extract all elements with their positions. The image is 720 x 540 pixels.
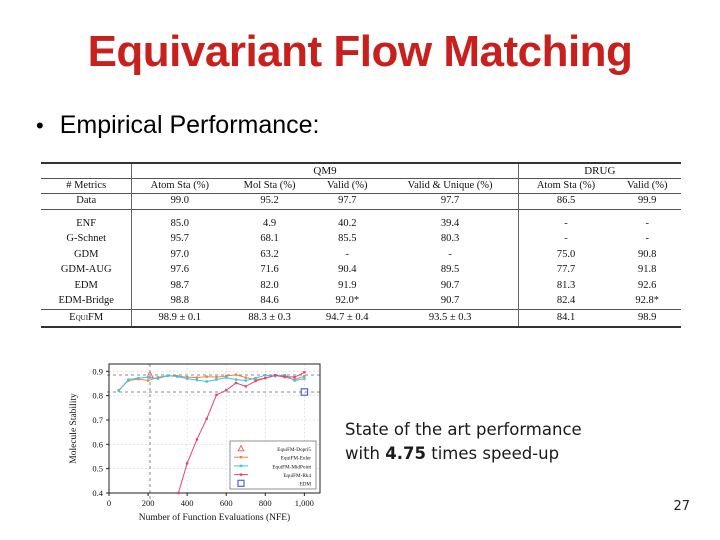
table-row: GDM-AUG 97.6 71.6 90.4 89.5 77.7 91.8 <box>41 263 681 279</box>
cell-qm9-mol-sta: 82.0 <box>227 278 312 294</box>
table-row: G-Schnet 95.7 68.1 85.5 80.3 - - <box>41 232 681 248</box>
chart-legend-marker-square <box>240 473 242 475</box>
cell-model-name: EDM <box>41 278 132 294</box>
chart-legend-label: EDM <box>299 482 311 488</box>
cell-model-name: ENF <box>41 216 132 232</box>
chart-marker-square <box>127 378 129 380</box>
chart-marker-square <box>215 376 217 378</box>
column-header-drug-valid: Valid (%) <box>613 179 681 194</box>
chart-marker-square <box>176 375 178 377</box>
chart-ytick-label: 0.8 <box>92 391 103 401</box>
chart-ytick-label: 0.6 <box>92 439 103 449</box>
chart-ytick-label: 0.9 <box>92 366 103 376</box>
cell-qm9-mol-sta: 95.2 <box>227 193 312 210</box>
chart-marker-square <box>186 462 188 464</box>
chart-marker-square <box>245 379 247 381</box>
column-header-qm9-mol-sta: Mol Sta (%) <box>227 179 312 194</box>
column-header-metrics: # Metrics <box>41 179 132 194</box>
table-row: ENF 85.0 4.9 40.2 39.4 - - <box>41 216 681 232</box>
chart-legend-label: EquiFM-Euler <box>281 456 312 462</box>
chart-marker-square <box>254 377 256 379</box>
chart-svg: 02004006008001,0000.40.50.60.70.80.9Numb… <box>62 356 330 536</box>
chart-marker-square <box>147 376 149 378</box>
chart-marker-square <box>205 375 207 377</box>
chart-marker-square <box>215 378 217 380</box>
cell-qm9-valid-unique: 97.7 <box>383 193 519 210</box>
chart-marker-square <box>225 389 227 391</box>
group-header-qm9: QM9 <box>132 163 518 179</box>
table-column-header-row: # Metrics Atom Sta (%) Mol Sta (%) Valid… <box>41 179 681 194</box>
cell-qm9-valid: 92.0* <box>312 294 383 310</box>
cell-qm9-mol-sta: 4.9 <box>227 216 312 232</box>
chart-marker-square <box>254 380 256 382</box>
chart-yaxis-label: Molecule Stability <box>69 393 79 464</box>
chart-xtick-label: 1,000 <box>295 498 314 508</box>
table-group-header-row: QM9 DRUG <box>41 163 681 179</box>
chart-marker-square <box>293 379 295 381</box>
column-header-drug-atom-sta: Atom Sta (%) <box>518 179 613 194</box>
chart-ytick-label: 0.7 <box>92 415 103 425</box>
chart-xaxis-label: Number of Function Evaluations (NFE) <box>139 512 290 523</box>
chart-marker-square <box>235 374 237 376</box>
cell-drug-valid: - <box>613 232 681 248</box>
nfe-vs-stability-chart: 02004006008001,0000.40.50.60.70.80.9Numb… <box>62 356 330 536</box>
chart-marker-square <box>205 418 207 420</box>
slide-page-number: 27 <box>673 499 690 514</box>
table-body: Data 99.0 95.2 97.7 97.7 86.5 99.9 ENF 8… <box>41 193 681 327</box>
cell-qm9-mol-sta: 88.3 ± 0.3 <box>227 310 312 327</box>
chart-marker-square <box>225 376 227 378</box>
cell-qm9-atom-sta: 98.7 <box>132 278 227 294</box>
chart-legend-label: EquiFM-Rk4 <box>283 473 311 479</box>
bullet-label: Empirical Performance: <box>60 110 320 140</box>
cell-qm9-valid: 97.7 <box>312 193 383 210</box>
chart-marker-square <box>303 375 305 377</box>
chart-marker-square <box>235 382 237 384</box>
chart-marker-square <box>166 374 168 376</box>
table-row-result: EquiFM 98.9 ± 0.1 88.3 ± 0.3 94.7 ± 0.4 … <box>41 310 681 327</box>
results-table: QM9 DRUG # Metrics Atom Sta (%) Mol Sta … <box>41 162 681 328</box>
group-header-drug: DRUG <box>518 163 681 179</box>
cell-model-name: GDM <box>41 247 132 263</box>
chart-marker-square <box>245 385 247 387</box>
cell-qm9-valid: 85.5 <box>312 232 383 248</box>
chart-marker-square <box>215 394 217 396</box>
chart-marker-square <box>235 378 237 380</box>
cell-qm9-mol-sta: 63.2 <box>227 247 312 263</box>
chart-legend-label: EquiFM-MidPoint <box>272 464 311 470</box>
cell-drug-atom-sta: 77.7 <box>518 263 613 279</box>
cell-drug-atom-sta: 84.1 <box>518 310 613 327</box>
table-header: QM9 DRUG # Metrics Atom Sta (%) Mol Sta … <box>41 163 681 193</box>
cell-qm9-valid: 91.9 <box>312 278 383 294</box>
cell-drug-valid: 98.9 <box>613 310 681 327</box>
cell-model-name: EquiFM <box>41 310 132 327</box>
column-header-qm9-atom-sta: Atom Sta (%) <box>132 179 227 194</box>
cell-model-name: Data <box>41 193 132 210</box>
chart-marker-square <box>177 492 179 494</box>
cell-qm9-atom-sta: 99.0 <box>132 193 227 210</box>
group-header-blank <box>41 163 132 179</box>
cell-drug-atom-sta: - <box>518 232 613 248</box>
cell-qm9-atom-sta: 85.0 <box>132 216 227 232</box>
cell-drug-atom-sta: 81.3 <box>518 278 613 294</box>
caption-line-1: State of the art performance <box>345 418 675 442</box>
chart-marker-square <box>186 377 188 379</box>
chart-marker-square <box>293 376 295 378</box>
cell-model-name: G-Schnet <box>41 232 132 248</box>
chart-legend: EquiFM-Dopri5EquiFM-EulerEquiFM-MidPoint… <box>230 441 316 489</box>
cell-drug-atom-sta: - <box>518 216 613 232</box>
chart-line <box>119 375 305 391</box>
cell-drug-valid: 90.8 <box>613 247 681 263</box>
cell-drug-atom-sta: 75.0 <box>518 247 613 263</box>
chart-marker-square <box>264 374 266 376</box>
chart-marker-square <box>137 377 139 379</box>
cell-drug-atom-sta: 86.5 <box>518 193 613 210</box>
chart-marker-square <box>196 376 198 378</box>
table-row: EDM-Bridge 98.8 84.6 92.0* 90.7 82.4 92.… <box>41 294 681 310</box>
cell-qm9-valid: - <box>312 247 383 263</box>
chart-ytick-label: 0.5 <box>92 464 103 474</box>
table-row: EDM 98.7 82.0 91.9 90.7 81.3 92.6 <box>41 278 681 294</box>
chart-marker-square <box>196 438 198 440</box>
cell-qm9-valid-unique: 39.4 <box>383 216 519 232</box>
chart-marker-square <box>274 374 276 376</box>
cell-qm9-atom-sta: 98.8 <box>132 294 227 310</box>
cell-qm9-valid-unique: 89.5 <box>383 263 519 279</box>
bullet-marker-icon: • <box>36 111 44 141</box>
cell-qm9-valid: 40.2 <box>312 216 383 232</box>
table-row-data: Data 99.0 95.2 97.7 97.7 86.5 99.9 <box>41 193 681 210</box>
chart-marker-square <box>196 379 198 381</box>
cell-qm9-mol-sta: 68.1 <box>227 232 312 248</box>
cell-drug-atom-sta: 82.4 <box>518 294 613 310</box>
cell-qm9-mol-sta: 84.6 <box>227 294 312 310</box>
column-header-qm9-valid-unique: Valid & Unique (%) <box>383 179 519 194</box>
caption-line-2: with 4.75 times speed-up <box>345 442 675 466</box>
performance-table: QM9 DRUG # Metrics Atom Sta (%) Mol Sta … <box>41 162 681 328</box>
cell-qm9-valid-unique: 93.5 ± 0.3 <box>383 310 519 327</box>
cell-qm9-mol-sta: 71.6 <box>227 263 312 279</box>
chart-xtick-label: 0 <box>107 498 111 508</box>
chart-xtick-label: 600 <box>220 498 233 508</box>
chart-marker-square <box>284 375 286 377</box>
column-header-qm9-valid: Valid (%) <box>312 179 383 194</box>
table-row: GDM 97.0 63.2 - - 75.0 90.8 <box>41 247 681 263</box>
chart-marker-square <box>147 379 149 381</box>
chart-xtick-label: 800 <box>259 498 272 508</box>
chart-marker-square <box>118 390 120 392</box>
cell-qm9-atom-sta: 98.9 ± 0.1 <box>132 310 227 327</box>
chart-marker-square <box>245 376 247 378</box>
chart-legend-marker-square <box>240 456 242 458</box>
cell-model-name: GDM-AUG <box>41 263 132 279</box>
chart-marker-square <box>205 380 207 382</box>
cell-drug-valid: 99.9 <box>613 193 681 210</box>
chart-xtick-label: 200 <box>142 498 155 508</box>
caption-suffix: times speed-up <box>426 444 559 463</box>
cell-qm9-valid-unique: 90.7 <box>383 278 519 294</box>
caption-prefix: with <box>345 444 385 463</box>
cell-qm9-atom-sta: 95.7 <box>132 232 227 248</box>
cell-qm9-valid-unique: - <box>383 247 519 263</box>
cell-qm9-valid: 90.4 <box>312 263 383 279</box>
cell-drug-valid: 91.8 <box>613 263 681 279</box>
cell-qm9-valid-unique: 90.7 <box>383 294 519 310</box>
chart-marker-square <box>303 377 305 379</box>
cell-drug-valid: - <box>613 216 681 232</box>
cell-drug-valid: 92.8* <box>613 294 681 310</box>
caption-speedup-value: 4.75 <box>385 444 426 463</box>
cell-model-name: EDM-Bridge <box>41 294 132 310</box>
cell-qm9-valid: 94.7 ± 0.4 <box>312 310 383 327</box>
chart-marker-square <box>157 377 159 379</box>
page-title: Equivariant Flow Matching <box>0 26 720 78</box>
chart-marker-square <box>303 371 305 373</box>
cell-qm9-atom-sta: 97.0 <box>132 247 227 263</box>
cell-qm9-atom-sta: 97.6 <box>132 263 227 279</box>
bullet-item: • Empirical Performance: <box>36 110 320 141</box>
caption-text: State of the art performance with 4.75 t… <box>345 418 675 466</box>
chart-legend-label: EquiFM-Dopri5 <box>277 447 311 453</box>
cell-drug-valid: 92.6 <box>613 278 681 294</box>
chart-legend-marker-square <box>240 465 242 467</box>
chart-marker-square <box>264 377 266 379</box>
chart-xtick-label: 400 <box>181 498 194 508</box>
cell-qm9-valid-unique: 80.3 <box>383 232 519 248</box>
chart-ytick-label: 0.4 <box>92 488 103 498</box>
